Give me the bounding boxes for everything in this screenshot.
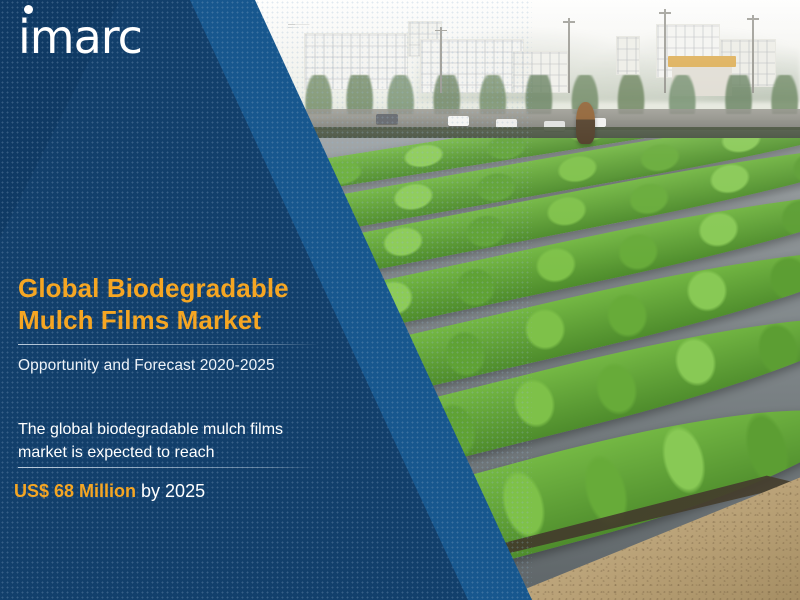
page-title-line-2: Mulch Films Market: [18, 305, 348, 337]
headline-figure: US$ 68 Million by 2025: [14, 481, 374, 503]
page-title-line-1: Global Biodegradable: [18, 273, 348, 305]
report-cover: imarc Global Biodegradable Mulch Films M…: [0, 0, 800, 600]
lede-text: The global biodegradable mulch films mar…: [18, 418, 363, 464]
logo-wordmark: imarc: [18, 10, 142, 64]
page-subtitle: Opportunity and Forecast 2020-2025: [18, 357, 358, 375]
lede-line-1: The global biodegradable mulch films: [18, 418, 363, 441]
figure-tail: by 2025: [136, 481, 205, 501]
page-title: Global Biodegradable Mulch Films Market: [18, 273, 348, 336]
imarc-logo[interactable]: imarc: [18, 14, 142, 60]
cover-content: imarc Global Biodegradable Mulch Films M…: [0, 0, 800, 600]
divider-above-subtitle: [18, 344, 320, 345]
lede-line-2: market is expected to reach: [18, 441, 363, 464]
figure-amount: US$ 68 Million: [14, 481, 136, 501]
divider-above-figure: [18, 467, 315, 468]
